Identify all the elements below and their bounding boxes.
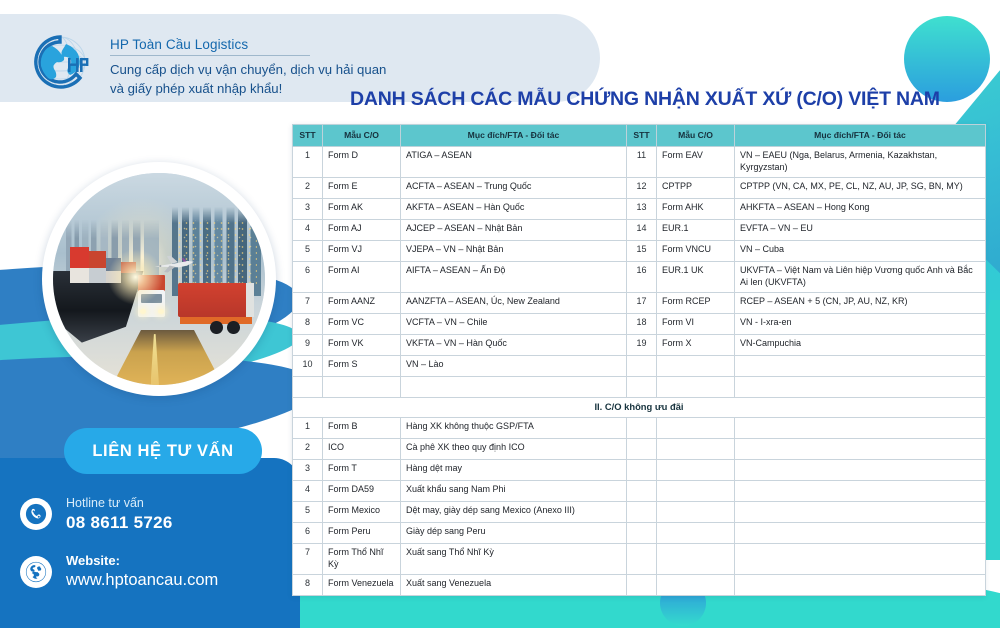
table-header-row: STT Mẫu C/O Mục đích/FTA - Đối tác STT M… [293, 125, 986, 147]
cell-stt-left: 9 [293, 335, 323, 356]
cell-purpose-right: VN – Cuba [735, 241, 986, 262]
co-forms-table: STT Mẫu C/O Mục đích/FTA - Đối tác STT M… [292, 124, 986, 596]
cell-empty-2 [657, 417, 735, 438]
cell-form-left: Form E [323, 178, 401, 199]
cell-form-right: Form AHK [657, 199, 735, 220]
cell-stt: 1 [293, 417, 323, 438]
cell-purpose: Hàng dệt may [401, 459, 627, 480]
cell-empty-3 [735, 574, 986, 595]
table-row: 5Form VJVJEPA – VN – Nhật Bản15Form VNCU… [293, 241, 986, 262]
col-header-form-left: Mẫu C/O [323, 125, 401, 147]
cell-purpose-left: AIFTA – ASEAN – Ấn Độ [401, 262, 627, 293]
cell-stt-left: 1 [293, 147, 323, 178]
cell-form-right: Form EAV [657, 147, 735, 178]
cell-stt: 2 [293, 438, 323, 459]
col-header-stt-right: STT [627, 125, 657, 147]
cell-empty-3 [735, 522, 986, 543]
cell-stt-left [293, 377, 323, 398]
cell-form-right: EUR.1 UK [657, 262, 735, 293]
table-row: 7Form Thổ Nhĩ KỳXuất sang Thổ Nhĩ Kỳ [293, 543, 986, 574]
table-row: 3Form AKAKFTA – ASEAN – Hàn Quốc13Form A… [293, 199, 986, 220]
table-row: 9Form VKVKFTA – VN – Hàn Quốc19Form XVN-… [293, 335, 986, 356]
cell-empty-3 [735, 543, 986, 574]
table-row: 7Form AANZAANZFTA – ASEAN, Úc, New Zeala… [293, 293, 986, 314]
cell-empty-1 [627, 522, 657, 543]
contact-panel [0, 458, 300, 628]
cell-empty-2 [657, 522, 735, 543]
cell-purpose-right [735, 356, 986, 377]
cell-form-right: Form VNCU [657, 241, 735, 262]
cell-empty-2 [657, 459, 735, 480]
co-forms-table-wrapper: STT Mẫu C/O Mục đích/FTA - Đối tác STT M… [292, 124, 985, 596]
col-header-stt-left: STT [293, 125, 323, 147]
cell-stt-right: 19 [627, 335, 657, 356]
cell-purpose-left: ATIGA – ASEAN [401, 147, 627, 178]
cell-stt: 8 [293, 574, 323, 595]
col-header-purpose-right: Mục đích/FTA - Đối tác [735, 125, 986, 147]
table-row: 4Form AJAJCEP – ASEAN – Nhật Bản14EUR.1E… [293, 220, 986, 241]
cell-purpose-left: VKFTA – VN – Hàn Quốc [401, 335, 627, 356]
table-row: 8Form VenezuelaXuất sang Venezuela [293, 574, 986, 595]
cell-stt-left: 5 [293, 241, 323, 262]
cell-purpose-right: EVFTA – VN – EU [735, 220, 986, 241]
table-row: 10Form SVN – Lào [293, 356, 986, 377]
table-head: STT Mẫu C/O Mục đích/FTA - Đối tác STT M… [293, 125, 986, 147]
cell-form-right: Form VI [657, 314, 735, 335]
table-row: 2ICOCà phê XK theo quy định ICO [293, 438, 986, 459]
cell-form-right [657, 356, 735, 377]
cell-form: Form Thổ Nhĩ Kỳ [323, 543, 401, 574]
cell-purpose: Dệt may, giày dép sang Mexico (Anexo III… [401, 501, 627, 522]
cell-stt-right: 17 [627, 293, 657, 314]
cell-form-left [323, 377, 401, 398]
website-label: Website: [66, 553, 218, 570]
globe-icon [20, 556, 52, 588]
cell-form-left: Form VC [323, 314, 401, 335]
cell-purpose-right: RCEP – ASEAN + 5 (CN, JP, AU, NZ, KR) [735, 293, 986, 314]
cell-purpose-left: AANZFTA – ASEAN, Úc, New Zealand [401, 293, 627, 314]
photo-container-1 [70, 247, 89, 268]
table-body-section2-header: II. C/O không ưu đãi [293, 398, 986, 418]
cell-purpose-right: VN-Campuchia [735, 335, 986, 356]
cell-empty-3 [735, 480, 986, 501]
hotline-number: 08 8611 5726 [66, 512, 173, 533]
col-header-purpose-left: Mục đích/FTA - Đối tác [401, 125, 627, 147]
cell-form-left: Form VJ [323, 241, 401, 262]
globe-hp-logo-icon [22, 26, 96, 100]
cell-purpose-left: VCFTA – VN – Chile [401, 314, 627, 335]
cell-purpose: Cà phê XK theo quy định ICO [401, 438, 627, 459]
cell-empty-3 [735, 417, 986, 438]
cell-form-right: EUR.1 [657, 220, 735, 241]
cell-stt-right [627, 377, 657, 398]
cell-empty-3 [735, 459, 986, 480]
photo-container-trailer [178, 283, 254, 317]
cell-purpose-right: UKVFTA – Việt Nam và Liên hiệp Vương quố… [735, 262, 986, 293]
cell-stt: 3 [293, 459, 323, 480]
cell-purpose-left: ACFTA – ASEAN – Trung Quốc [401, 178, 627, 199]
cell-form: ICO [323, 438, 401, 459]
hotline-row[interactable]: Hotline tư vấn 08 8611 5726 [20, 496, 173, 533]
table-row: 1Form DATIGA – ASEAN11Form EAVVN – EAEU … [293, 147, 986, 178]
logistics-collage-photo [53, 173, 265, 385]
table-row: 5Form MexicoDệt may, giày dép sang Mexic… [293, 501, 986, 522]
photo-trailer-edge [246, 283, 254, 317]
contact-cta-label: LIÊN HỆ TƯ VẤN [92, 442, 233, 461]
cell-form: Form Mexico [323, 501, 401, 522]
cell-form-left: Form AI [323, 262, 401, 293]
cell-stt-left: 10 [293, 356, 323, 377]
website-url: www.hptoancau.com [66, 570, 218, 591]
photo-trailer-wheel-2 [210, 321, 223, 334]
table-row: 3Form THàng dệt may [293, 459, 986, 480]
cell-purpose-left: VN – Lào [401, 356, 627, 377]
page-title: DANH SÁCH CÁC MẪU CHỨNG NHẬN XUẤT XỨ (C/… [350, 88, 940, 111]
cell-stt-right [627, 356, 657, 377]
cell-stt-left: 3 [293, 199, 323, 220]
cell-purpose: Xuất khẩu sang Nam Phi [401, 480, 627, 501]
cell-form: Form Venezuela [323, 574, 401, 595]
table-row: 6Form PeruGiày dép sang Peru [293, 522, 986, 543]
cell-form-left: Form D [323, 147, 401, 178]
cell-empty-2 [657, 438, 735, 459]
hotline-label: Hotline tư vấn [66, 496, 173, 512]
section-header-row: II. C/O không ưu đãi [293, 398, 986, 418]
table-row: 2Form EACFTA – ASEAN – Trung Quốc12CPTPP… [293, 178, 986, 199]
photo-container-2 [70, 268, 89, 283]
cell-stt-right: 16 [627, 262, 657, 293]
table-row: 4Form DA59Xuất khẩu sang Nam Phi [293, 480, 986, 501]
brand-name: HP Toàn Cầu Logistics [110, 37, 310, 56]
cell-empty-2 [657, 574, 735, 595]
cell-empty-1 [627, 543, 657, 574]
cell-purpose: Hàng XK không thuộc GSP/FTA [401, 417, 627, 438]
cell-stt-left: 2 [293, 178, 323, 199]
infographic-canvas: HP Toàn Cầu Logistics Cung cấp dịch vụ v… [0, 0, 1000, 628]
cell-empty-1 [627, 501, 657, 522]
photo-trailer-wheel-1 [227, 321, 240, 334]
col-header-form-right: Mẫu C/O [657, 125, 735, 147]
table-row: 8Form VCVCFTA – VN – Chile18Form VIVN - … [293, 314, 986, 335]
cell-purpose: Xuất sang Venezuela [401, 574, 627, 595]
cell-form-left: Form AK [323, 199, 401, 220]
cell-form: Form DA59 [323, 480, 401, 501]
cell-empty-1 [627, 480, 657, 501]
cell-purpose: Xuất sang Thổ Nhĩ Kỳ [401, 543, 627, 574]
cell-stt: 6 [293, 522, 323, 543]
cell-empty-2 [657, 480, 735, 501]
cell-form: Form Peru [323, 522, 401, 543]
table-row [293, 377, 986, 398]
cell-stt: 4 [293, 480, 323, 501]
cell-form: Form B [323, 417, 401, 438]
cell-stt-left: 4 [293, 220, 323, 241]
cell-stt-right: 15 [627, 241, 657, 262]
phone-globe-icon [20, 498, 52, 530]
cell-form-right: Form X [657, 335, 735, 356]
cell-stt-right: 12 [627, 178, 657, 199]
cell-purpose-right: CPTPP (VN, CA, MX, PE, CL, NZ, AU, JP, S… [735, 178, 986, 199]
cell-form-left: Form AJ [323, 220, 401, 241]
cell-stt-left: 6 [293, 262, 323, 293]
cell-empty-1 [627, 417, 657, 438]
cell-form-left: Form S [323, 356, 401, 377]
cell-empty-1 [627, 438, 657, 459]
cell-stt-left: 8 [293, 314, 323, 335]
cell-form-right: Form RCEP [657, 293, 735, 314]
cell-empty-1 [627, 574, 657, 595]
cell-form-right: CPTPP [657, 178, 735, 199]
logistics-photo-ring [42, 162, 276, 396]
photo-sun-glow [104, 245, 168, 309]
cell-purpose-right: VN - I-xra-en [735, 314, 986, 335]
brand-tagline-line1: Cung cấp dịch vụ vận chuyển, dịch vụ hải… [110, 61, 430, 80]
cell-form-right [657, 377, 735, 398]
cell-purpose: Giày dép sang Peru [401, 522, 627, 543]
website-row[interactable]: Website: www.hptoancau.com [20, 553, 218, 591]
cell-empty-3 [735, 501, 986, 522]
cell-stt: 5 [293, 501, 323, 522]
cell-stt-right: 18 [627, 314, 657, 335]
cell-empty-3 [735, 438, 986, 459]
table-row: 6Form AIAIFTA – ASEAN – Ấn Độ16EUR.1 UKU… [293, 262, 986, 293]
cell-empty-2 [657, 543, 735, 574]
table-body-preferential: 1Form DATIGA – ASEAN11Form EAVVN – EAEU … [293, 147, 986, 398]
cell-purpose-right [735, 377, 986, 398]
cell-purpose-right: VN – EAEU (Nga, Belarus, Armenia, Kazakh… [735, 147, 986, 178]
cell-empty-1 [627, 459, 657, 480]
cell-purpose-right: AHKFTA – ASEAN – Hong Kong [735, 199, 986, 220]
cell-purpose-left: VJEPA – VN – Nhật Bản [401, 241, 627, 262]
cell-form-left: Form AANZ [323, 293, 401, 314]
section-title: II. C/O không ưu đãi [293, 398, 986, 418]
cell-purpose-left [401, 377, 627, 398]
cell-purpose-left: AKFTA – ASEAN – Hàn Quốc [401, 199, 627, 220]
cell-stt-right: 14 [627, 220, 657, 241]
cell-purpose-left: AJCEP – ASEAN – Nhật Bản [401, 220, 627, 241]
table-body-non-preferential: 1Form BHàng XK không thuộc GSP/FTA2ICOCà… [293, 417, 986, 595]
cell-stt-left: 7 [293, 293, 323, 314]
cell-stt: 7 [293, 543, 323, 574]
cell-stt-right: 11 [627, 147, 657, 178]
cell-stt-right: 13 [627, 199, 657, 220]
cell-form: Form T [323, 459, 401, 480]
cell-empty-2 [657, 501, 735, 522]
cell-form-left: Form VK [323, 335, 401, 356]
contact-cta-pill[interactable]: LIÊN HỆ TƯ VẤN [64, 428, 262, 474]
table-row: 1Form BHàng XK không thuộc GSP/FTA [293, 417, 986, 438]
